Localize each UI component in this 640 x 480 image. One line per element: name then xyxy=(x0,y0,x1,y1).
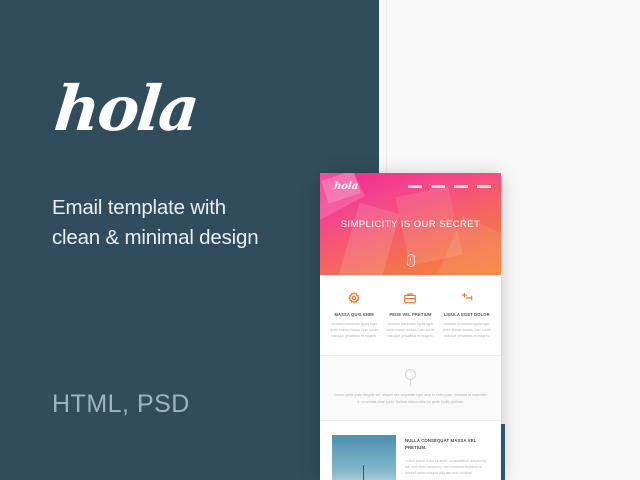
mockup-article-text: Lorem ipsum dolor sit amet, consectetuer… xyxy=(405,458,489,477)
briefcase-icon xyxy=(385,289,435,306)
mockup-article: NULLA CONSEQUAT MASSA VEL PRETIUM. Lorem… xyxy=(320,421,501,480)
mockup-feature-body: Aenean commodo ligula eget dolor enean m… xyxy=(385,321,435,339)
mockup-article-photo xyxy=(332,435,396,480)
tagline: Email template withclean & minimal desig… xyxy=(52,193,352,253)
brand-logo: hola xyxy=(52,78,201,140)
mockup-feature-title: MASSA QUIS ENIM xyxy=(329,312,379,317)
mockup-quote-block: “ Donec pede justo fringilla vel, alique… xyxy=(320,356,501,420)
mockup-feature-title: LIGULA EGET DOLOR xyxy=(442,312,492,317)
mockup-article-title: NULLA CONSEQUAT MASSA VEL PRETIUM. xyxy=(405,437,489,451)
mockup-hero: hola SIMPLICITY IS OUR SECRET xyxy=(320,173,501,275)
tagline-line-1: Email template with xyxy=(52,196,226,219)
quote-stem xyxy=(410,380,411,386)
hero-shard xyxy=(338,203,400,275)
windmill-icon xyxy=(363,465,364,480)
nav-item-contact[interactable] xyxy=(477,185,491,188)
wrench-icon xyxy=(442,289,492,306)
mockup-feature-row: MASSA QUIS ENIM Aenean commodo ligula eg… xyxy=(320,275,501,355)
mockup-feature-1: MASSA QUIS ENIM Aenean commodo ligula eg… xyxy=(326,289,382,339)
mockup-feature-title: PEDE VEL PRETIUM xyxy=(385,312,435,317)
formats-label: HTML, PSD xyxy=(52,390,190,419)
mockup-nav[interactable] xyxy=(408,185,491,188)
background-strip xyxy=(501,424,505,480)
mockup-article-body: NULLA CONSEQUAT MASSA VEL PRETIUM. Lorem… xyxy=(405,435,489,480)
mockup-feature-body: Aenean commodo ligula eget dolor enean m… xyxy=(442,321,492,339)
gear-icon xyxy=(329,289,379,306)
email-template-mockup: hola SIMPLICITY IS OUR SECRET MASSA QUIS… xyxy=(320,173,501,480)
nav-item-blog[interactable] xyxy=(454,185,468,188)
mockup-feature-body: Aenean commodo ligula eget dolor enean m… xyxy=(329,321,379,339)
mouse-scroll-icon[interactable] xyxy=(407,254,415,267)
tagline-line-2: clean & minimal design xyxy=(52,226,258,249)
mockup-logo: hola xyxy=(333,181,358,192)
quote-mark-icon: “ xyxy=(405,369,416,380)
mockup-feature-3: LIGULA EGET DOLOR Aenean commodo ligula … xyxy=(439,289,495,339)
mockup-quote-text: Donec pede justo fringilla vel, aliquet … xyxy=(334,392,487,405)
mockup-feature-2: PEDE VEL PRETIUM Aenean commodo ligula e… xyxy=(382,289,438,339)
promo-banner: hola Email template withclean & minimal … xyxy=(0,0,640,480)
nav-item-pages[interactable] xyxy=(431,185,445,188)
mockup-hero-title: SIMPLICITY IS OUR SECRET xyxy=(320,219,501,229)
nav-item-home[interactable] xyxy=(408,185,422,188)
